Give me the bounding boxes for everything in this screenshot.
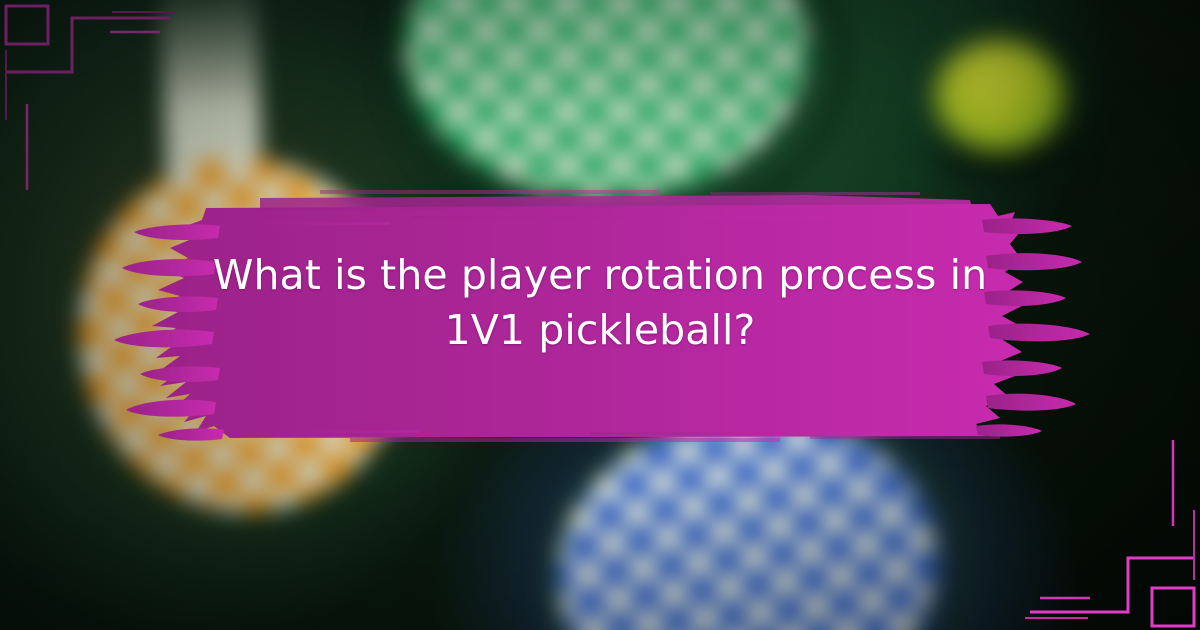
corner-ornament-top-left	[0, 0, 200, 200]
headline-banner: What is the player rotation process in 1…	[110, 186, 1090, 442]
social-card: What is the player rotation process in 1…	[0, 0, 1200, 630]
page-title: What is the player rotation process in 1…	[206, 248, 994, 358]
corner-ornament-bottom-right	[1000, 430, 1200, 630]
headline-line-2: pickleball?	[538, 306, 755, 354]
